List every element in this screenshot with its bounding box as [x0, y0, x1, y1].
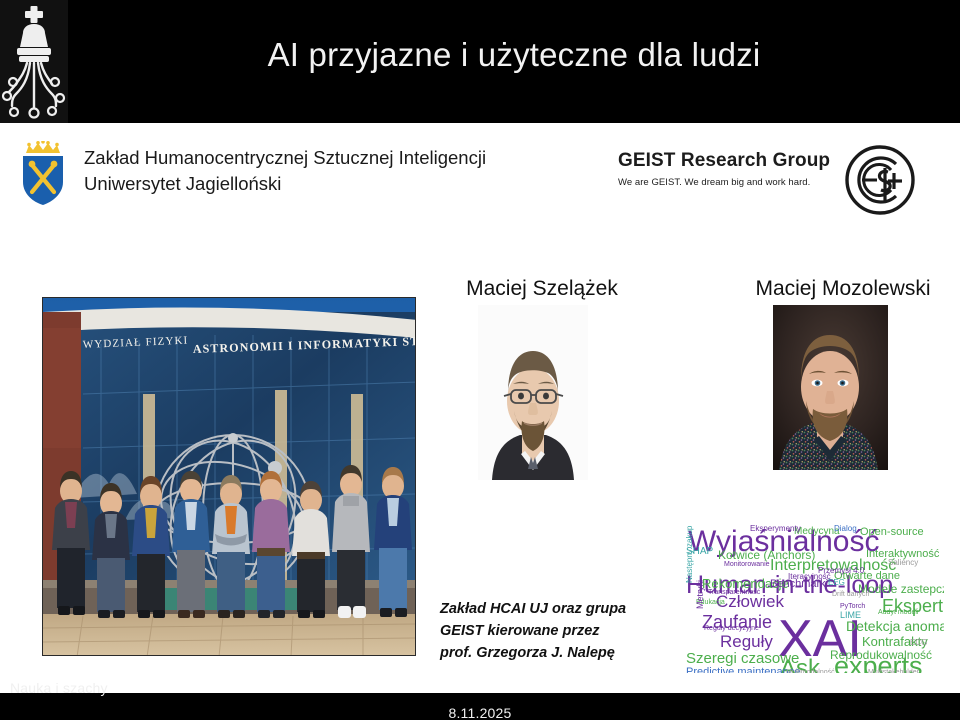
wordcloud-word-rotated: Metryki: [696, 580, 705, 609]
wordcloud-word: ECG: [910, 639, 927, 647]
wordcloud-word: Audyt modeli: [878, 609, 918, 616]
wordcloud-word: Eksperymenty: [750, 525, 801, 533]
wordcloud-word: Predictive maintenance: [686, 667, 800, 673]
affiliation-block: Zakład Humanocentrycznej Sztucznej Intel…: [18, 141, 486, 205]
wordcloud-word: Drift danych: [832, 591, 869, 598]
wordcloud-word-rotated: Następny zakup: [686, 526, 694, 583]
wordcloud-word: Transparentność: [708, 589, 760, 596]
caption-line-2: GEIST kierowane przez: [440, 620, 680, 642]
portrait-maciej-szelazek: [478, 305, 588, 480]
wordcloud-word: Dialog: [834, 525, 857, 533]
affiliation-line-1: Zakład Humanocentrycznej Sztucznej Intel…: [84, 145, 486, 171]
wordcloud-word: Benchmarki: [770, 579, 828, 590]
wordcloud-word: Detekcja anomalii: [846, 619, 944, 633]
wordcloud-word: Multistakeholder: [868, 669, 919, 673]
wordcloud-word: Kotwice (Anchors): [718, 549, 815, 561]
wordcloud-word: LIME: [840, 611, 861, 620]
person-name-left: Maciej Szelążek: [462, 277, 622, 301]
caption-line-1: Zakład HCAI UJ oraz grupa: [440, 598, 680, 620]
caption-line-3: prof. Grzegorza J. Nalepę: [440, 642, 680, 664]
group-photo-caption: Zakład HCAI UJ oraz grupa GEIST kierowan…: [440, 598, 680, 664]
wordcloud-word: Szeregi czasowe: [686, 651, 799, 666]
wordcloud-word: Reguły: [720, 633, 773, 650]
geist-circular-monogram-icon: [844, 144, 916, 216]
page-title: AI przyjazne i użyteczne dla ludzi: [68, 0, 960, 123]
wordcloud-word: PyTorch: [840, 603, 865, 610]
portrait-maciej-mozolewski: [773, 305, 888, 470]
geist-title: GEIST Research Group: [618, 150, 830, 172]
footer-label: Nauka i szachy: [10, 680, 108, 696]
group-people: [52, 465, 412, 618]
footer-date: 8.11.2025: [0, 705, 960, 721]
wordcloud-word: Reprodukowalność: [830, 649, 932, 661]
wordcloud-word: Open-source: [860, 527, 924, 538]
wordcloud-word: Multimodalność: [786, 669, 835, 673]
person-name-right: Maciej Mozolewski: [752, 277, 934, 301]
brand-logo-box: [0, 0, 68, 123]
wordcloud-word: EEG: [828, 579, 845, 587]
wordcloud-word: Reguły decyzyjne: [704, 625, 759, 632]
header-band: AI przyjazne i użyteczne dla ludzi: [0, 0, 960, 123]
wordcloud-word: Saliency: [888, 559, 918, 567]
chess-king-circuit-icon: [0, 0, 68, 123]
group-photo-faculty-building: WYDZIAŁ FIZYKI ASTRONOMII I INFORMATYKI …: [42, 297, 416, 656]
wordcloud-word: Monitorowanie: [724, 561, 770, 568]
affiliation-line-2: Uniwersytet Jagielloński: [84, 171, 486, 197]
wordcloud-word: Medycyna: [794, 527, 840, 537]
geist-tagline: We are GEIST. We dream big and work hard…: [618, 177, 830, 188]
uj-crest-icon: [18, 141, 68, 205]
geist-block: GEIST Research Group We are GEIST. We dr…: [618, 148, 916, 216]
xai-wordcloud: WyjaśnialnośćHuman-in-the-loopXAIInterpr…: [682, 521, 944, 673]
wordcloud-word: Modele zastepcze: [858, 583, 944, 595]
